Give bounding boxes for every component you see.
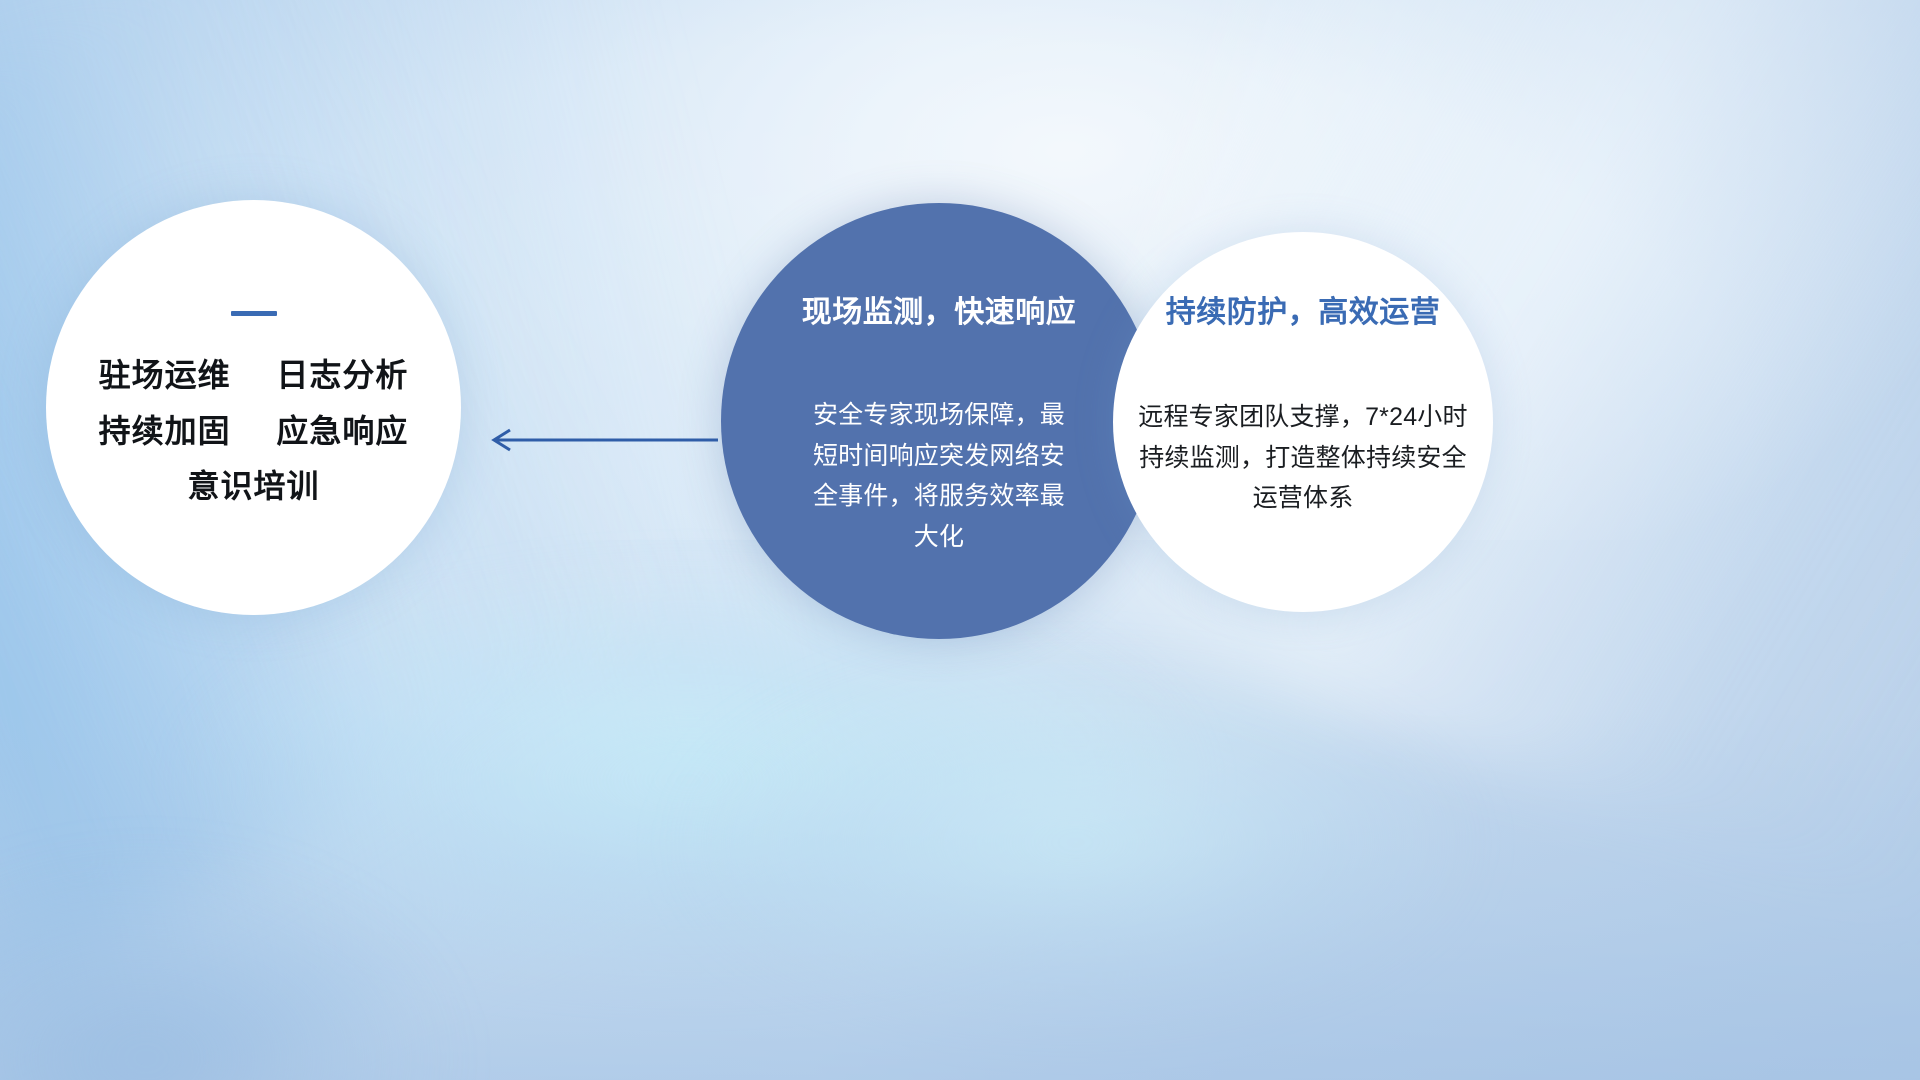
capability-item-awareness-training: 意识培训 [187,468,319,504]
blue-divider-dash [231,311,277,316]
capability-item-incident-resp: 应急响应 [276,413,408,449]
right-circle-heading: 持续防护，高效运营 [1166,287,1441,331]
capability-row-3: 意识培训 [187,469,319,504]
middle-circle-content: 现场监测，快速响应 安全专家现场保障，最短时间响应突发网络安全事件，将服务效率最… [721,203,1157,639]
middle-circle-body: 安全专家现场保障，最短时间响应突发网络安全事件，将服务效率最大化 [803,395,1075,557]
left-capability-circle[interactable]: 驻场运维 日志分析 持续加固 应急响应 意识培训 [46,200,461,615]
middle-onsite-circle[interactable]: 现场监测，快速响应 安全专家现场保障，最短时间响应突发网络安全事件，将服务效率最… [721,203,1157,639]
left-circle-content: 驻场运维 日志分析 持续加固 应急响应 意识培训 [46,200,461,615]
capability-row-1: 驻场运维 日志分析 [99,358,409,393]
flow-arrow-left [480,412,720,468]
capability-item-log-analysis: 日志分析 [276,357,408,393]
arrow-svg [480,412,720,468]
capability-item-onsite-ops: 驻场运维 [99,357,231,393]
capability-list: 驻场运维 日志分析 持续加固 应急响应 意识培训 [99,358,409,504]
right-operations-circle[interactable]: 持续防护，高效运营 远程专家团队支撑，7*24小时持续监测，打造整体持续安全运营… [1113,232,1493,612]
middle-circle-heading: 现场监测，快速响应 [802,287,1077,331]
right-circle-content: 持续防护，高效运营 远程专家团队支撑，7*24小时持续监测，打造整体持续安全运营… [1113,232,1493,612]
right-circle-body: 远程专家团队支撑，7*24小时持续监测，打造整体持续安全运营体系 [1131,397,1476,519]
slide-canvas: 驻场运维 日志分析 持续加固 应急响应 意识培训 现 [0,0,1920,1080]
capability-item-hardening: 持续加固 [99,413,231,449]
capability-row-2: 持续加固 应急响应 [99,414,409,449]
